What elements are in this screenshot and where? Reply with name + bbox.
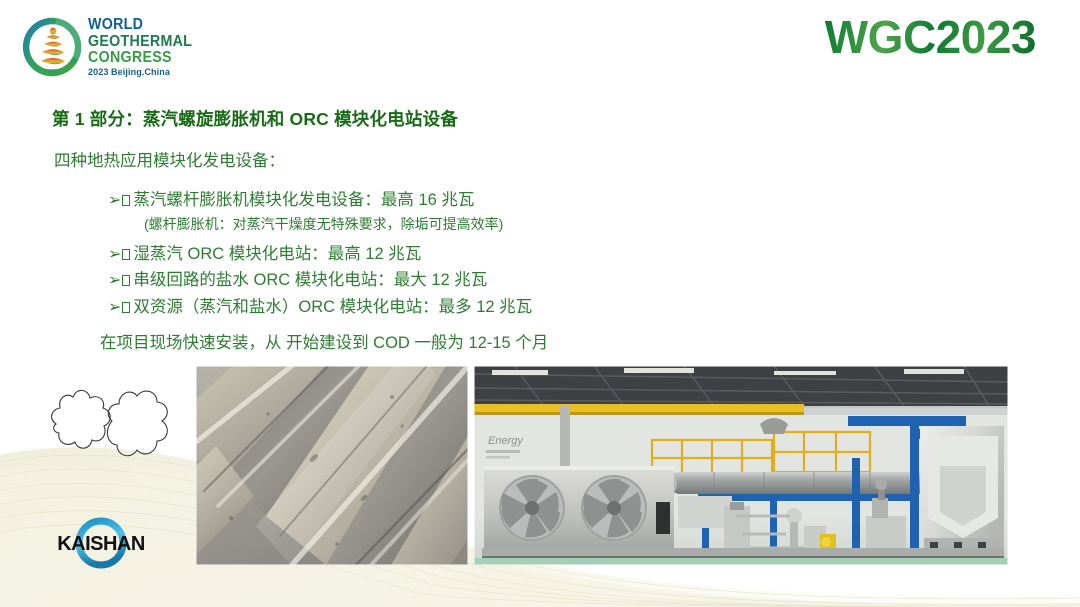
box-glyph-icon (122, 275, 130, 286)
arrow-bullet-icon: ➢ (108, 188, 121, 211)
bullet-text: 湿蒸汽 ORC 模块化电站：最高 12 兆瓦 (133, 243, 421, 267)
slide-header: wgc WORLD GEOTHERMAL CONGRESS 2023 Beiji… (0, 0, 1080, 92)
bullet-note: (螺杆膨胀机：对蒸汽干燥度无特殊要求，除垢可提高效率) (144, 215, 1008, 235)
closing-line: 在项目现场快速安装，从 开始建设到 COD 一般为 12-15 个月 (100, 329, 548, 353)
arrow-bullet-icon: ➢ (108, 242, 121, 265)
intro-line: 四种地热应用模块化发电设备： (54, 147, 285, 171)
list-item: ➢ 双资源（蒸汽和盐水）ORC 模块化电站：最多 12 兆瓦 (108, 295, 1008, 320)
bullet-item-group: ➢ 蒸汽螺杆膨胀机模块化发电设备：最高 16 兆瓦 (螺杆膨胀机：对蒸汽干燥度无… (108, 188, 1008, 235)
wgc-logo-line-2: GEOTHERMAL (88, 34, 192, 50)
arrow-bullet-icon: ➢ (108, 295, 121, 318)
wgc-logo-mark-icon: wgc (22, 16, 84, 78)
wgc-logo-line-3: CONGRESS (88, 50, 192, 66)
wgc-conference-logo: wgc WORLD GEOTHERMAL CONGRESS 2023 Beiji… (22, 12, 187, 82)
arrow-bullet-icon: ➢ (108, 268, 121, 291)
bullet-text: 双资源（蒸汽和盐水）ORC 模块化电站：最多 12 兆瓦 (133, 296, 532, 320)
wgc-logo-line-1: WORLD (88, 17, 192, 33)
bullet-text: 蒸汽螺杆膨胀机模块化发电设备：最高 16 兆瓦 (133, 189, 474, 213)
box-glyph-icon (122, 195, 130, 206)
wall-sign-text: Energy (488, 435, 524, 447)
bullet-text: 串级回路的盐水 ORC 模块化电站：最大 12 兆瓦 (133, 269, 487, 293)
box-glyph-icon (122, 249, 130, 260)
section-title: 第 1 部分：蒸汽螺旋膨胀机和 ORC 模块化电站设备 (52, 106, 458, 131)
list-item: ➢ 湿蒸汽 ORC 模块化电站：最高 12 兆瓦 (108, 242, 1008, 267)
list-item: ➢ 蒸汽螺杆膨胀机模块化发电设备：最高 16 兆瓦 (108, 188, 1008, 213)
bullet-list: ➢ 蒸汽螺杆膨胀机模块化发电设备：最高 16 兆瓦 (螺杆膨胀机：对蒸汽干燥度无… (108, 188, 1008, 322)
kaishan-company-logo: KAISHAN (37, 514, 165, 572)
wgc-logo-wordmark: WORLD GEOTHERMAL CONGRESS 2023 Beijing.C… (88, 17, 201, 77)
box-glyph-icon (122, 302, 130, 313)
wgc-logo-subtitle: 2023 Beijing.China (88, 68, 196, 78)
wgc-mark-label: wgc (46, 68, 60, 75)
photo-screw-rotor (196, 366, 468, 565)
kaishan-wordmark: KAISHAN (57, 533, 145, 555)
photo-orc-power-plant: Energy (474, 366, 1008, 565)
slide-brand-title: WGC2023 (825, 14, 1036, 60)
list-item: ➢ 串级回路的盐水 ORC 模块化电站：最大 12 兆瓦 (108, 268, 1008, 293)
